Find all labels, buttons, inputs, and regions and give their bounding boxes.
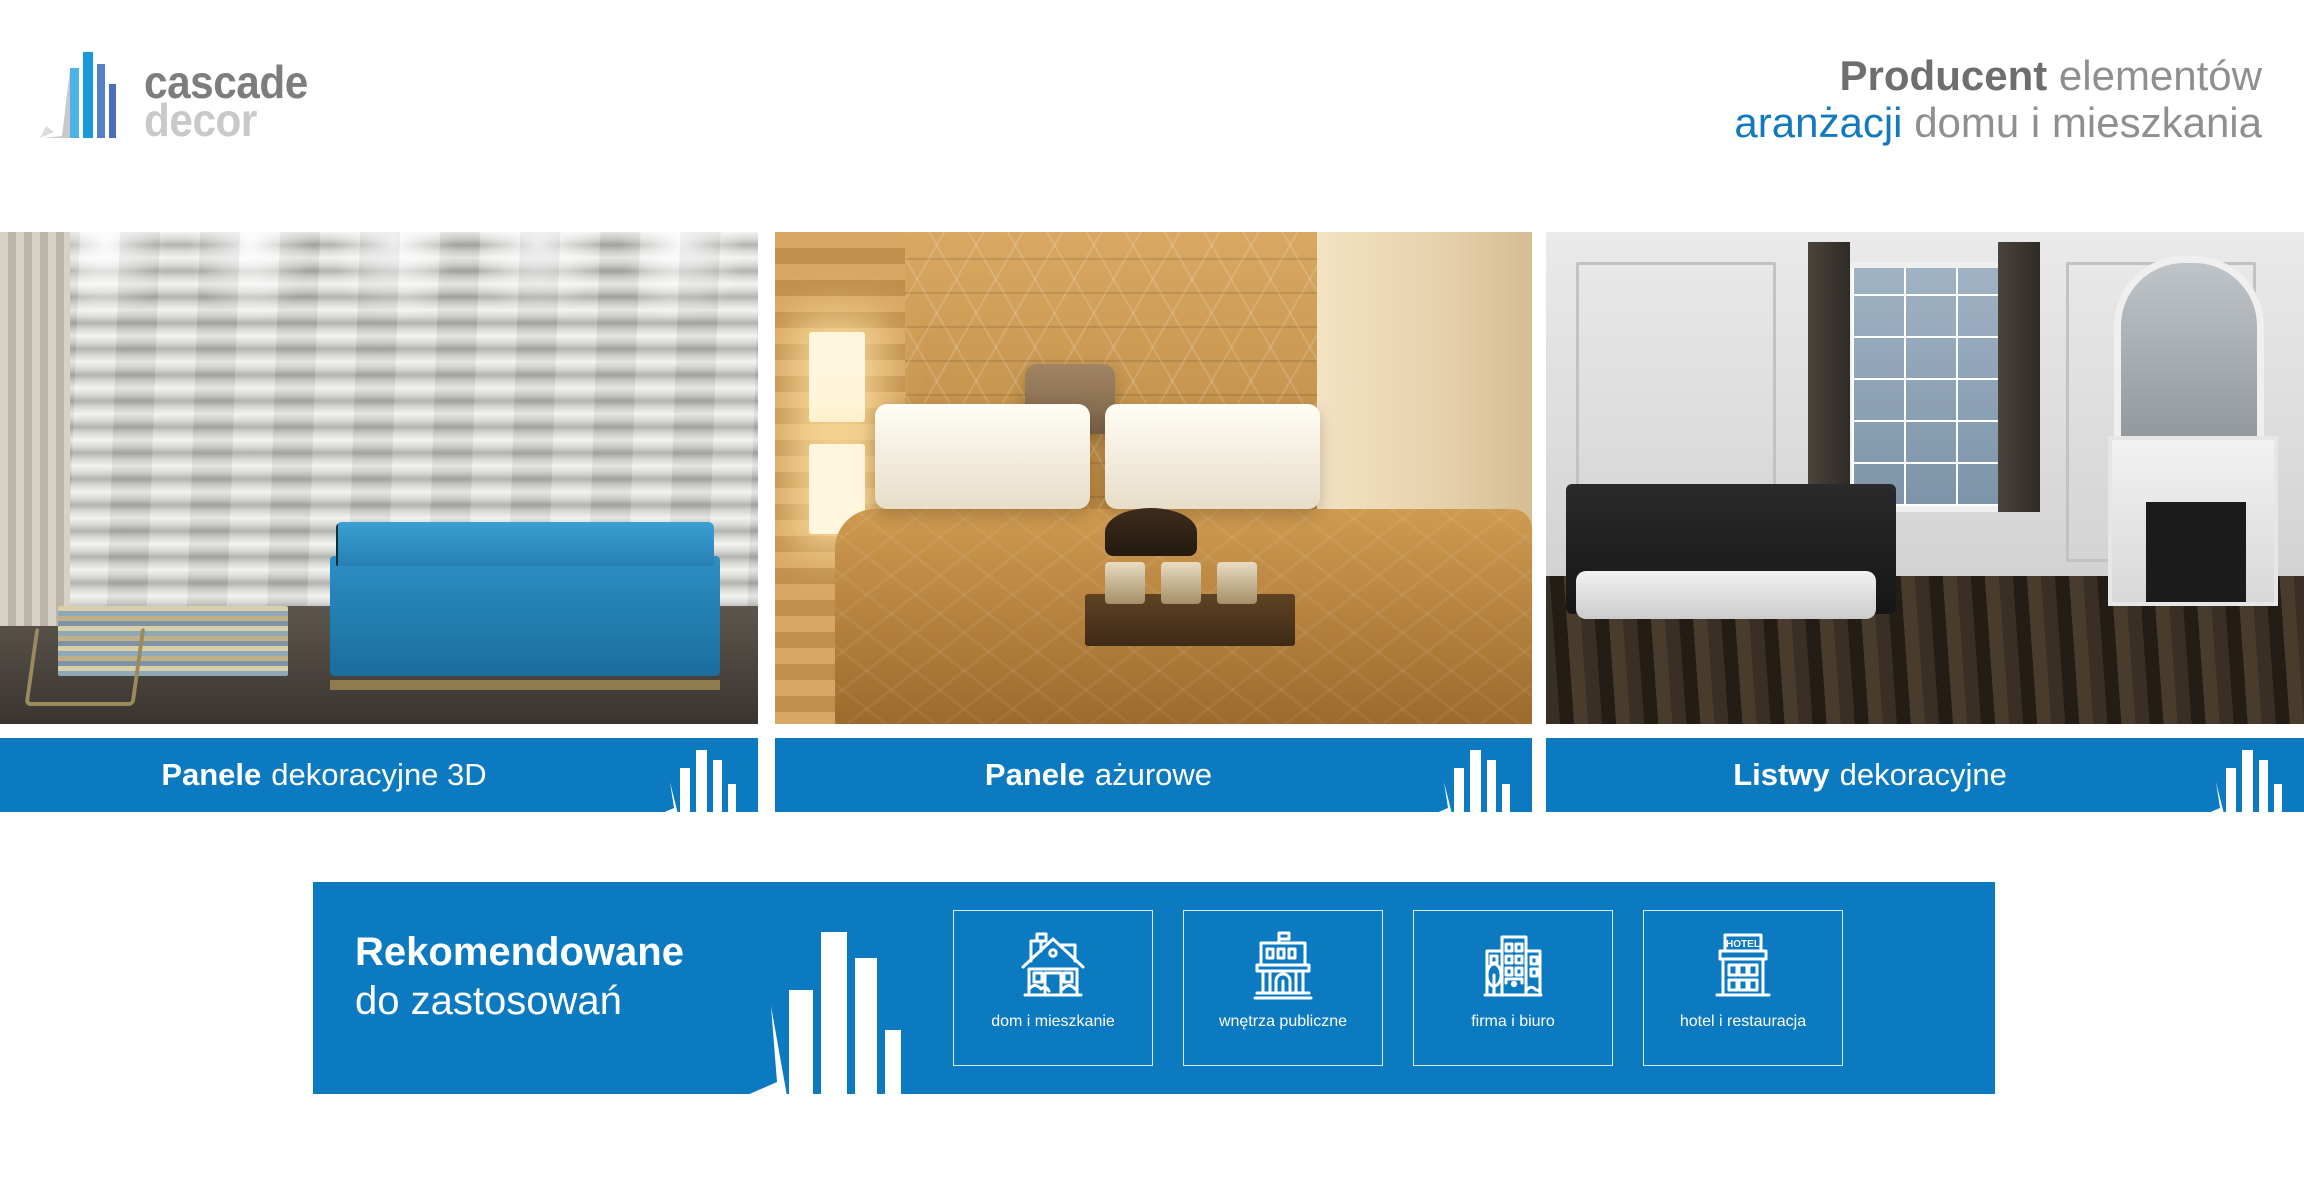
photo-chair: [24, 626, 145, 706]
photo-drape-left: [1808, 242, 1850, 512]
brand-word-decor: decor: [144, 102, 328, 140]
caption-text: Panele ażurowe: [775, 738, 1422, 812]
product-photo-listwy-dekoracyjne[interactable]: [1546, 232, 2304, 724]
svg-text:HOTEL: HOTEL: [1726, 939, 1760, 950]
headline-domu: domu i mieszkania: [1914, 99, 2262, 146]
office-buildings-icon: [1475, 927, 1551, 1005]
bar-chart-icon: [2204, 742, 2288, 812]
caption-bold: Listwy: [1733, 757, 1829, 793]
headline-producent: Producent: [1840, 52, 2048, 99]
recommended-uses-bar: Rekomendowane do zastosowań: [313, 882, 1995, 1094]
caption-bar-listwy-dekoracyjne[interactable]: Listwy dekoracyjne: [1546, 738, 2304, 812]
headline-elementow: elementów: [2059, 52, 2262, 99]
caption-bold: Panele: [161, 757, 261, 793]
caption-light: dekoracyjne 3D: [271, 757, 486, 793]
caption-text: Panele dekoracyjne 3D: [0, 738, 648, 812]
photo-cup-3: [1217, 562, 1257, 604]
promo-banner: cascade decor Producent elementów aranża…: [0, 0, 2304, 1196]
photo-decorative-mouldings-room: [1546, 232, 2304, 724]
photo-blue-sofa: [330, 556, 720, 676]
bar-chart-icon: [1432, 742, 1516, 812]
recommended-item-dom-i-mieszkanie[interactable]: dom i mieszkanie: [953, 910, 1153, 1066]
house-icon: [1015, 927, 1091, 1005]
recommended-item-label: wnętrza publiczne: [1219, 1013, 1347, 1031]
headline-line-2: aranżacji domu i mieszkania: [1734, 99, 2262, 146]
civic-building-icon: [1245, 927, 1321, 1005]
product-photo-row: [0, 232, 2304, 724]
recommended-title-bold: Rekomendowane: [355, 928, 684, 977]
photo-cup-2: [1161, 562, 1201, 604]
photo-openwork-panels-bedroom: [775, 232, 1532, 724]
header: cascade decor Producent elementów aranża…: [0, 0, 2304, 232]
bar-chart-logo-mark-icon: [40, 40, 130, 140]
recommended-item-label: dom i mieszkanie: [991, 1013, 1115, 1031]
caption-bold: Panele: [985, 757, 1085, 793]
photo-drape-right: [1998, 242, 2040, 512]
photo-bedding: [1576, 571, 1876, 619]
caption-text: Listwy dekoracyjne: [1546, 738, 2194, 812]
recommended-item-wnetrza-publiczne[interactable]: wnętrza publiczne: [1183, 910, 1383, 1066]
photo-teapot: [1105, 508, 1197, 556]
photo-window: [1846, 262, 2006, 512]
bar-chart-icon: [741, 910, 901, 1094]
photo-cup-1: [1105, 562, 1145, 604]
photo-pillow-left: [875, 404, 1090, 509]
recommended-item-label: hotel i restauracja: [1680, 1013, 1806, 1031]
headline-line-1: Producent elementów: [1734, 52, 2262, 99]
caption-bar-panele-dekoracyjne-3d[interactable]: Panele dekoracyjne 3D: [0, 738, 758, 812]
photo-pillow-right: [1105, 404, 1320, 509]
photo-mirror: [2114, 256, 2264, 456]
product-photo-panele-dekoracyjne-3d[interactable]: [0, 232, 758, 724]
photo-fireplace: [2108, 436, 2278, 606]
photo-3d-wall-panels: [0, 232, 758, 724]
headline-aranzacji: aranżacji: [1734, 99, 1902, 146]
photo-wall-lamp-upper: [809, 332, 865, 422]
recommended-title-light: do zastosowań: [355, 977, 684, 1026]
recommended-item-hotel-i-restauracja[interactable]: HOTEL hotel i restauracja: [1643, 910, 1843, 1066]
caption-bar-panele-azurowe[interactable]: Panele ażurowe: [775, 738, 1532, 812]
headline: Producent elementów aranżacji domu i mie…: [1734, 52, 2262, 146]
product-photo-panele-azurowe[interactable]: [775, 232, 1532, 724]
brand-logo[interactable]: cascade decor: [40, 40, 340, 140]
bar-chart-icon: [658, 742, 742, 812]
hotel-building-icon: HOTEL: [1705, 927, 1781, 1005]
caption-light: ażurowe: [1095, 757, 1212, 793]
brand-wordmark: cascade decor: [144, 64, 344, 144]
recommended-item-firma-i-biuro[interactable]: firma i biuro: [1413, 910, 1613, 1066]
caption-light: dekoracyjne: [1840, 757, 2007, 793]
recommended-title: Rekomendowane do zastosowań: [355, 928, 684, 1026]
recommended-items: dom i mieszkanie: [953, 910, 1843, 1066]
photo-curtain: [0, 232, 70, 626]
recommended-item-label: firma i biuro: [1471, 1013, 1555, 1031]
